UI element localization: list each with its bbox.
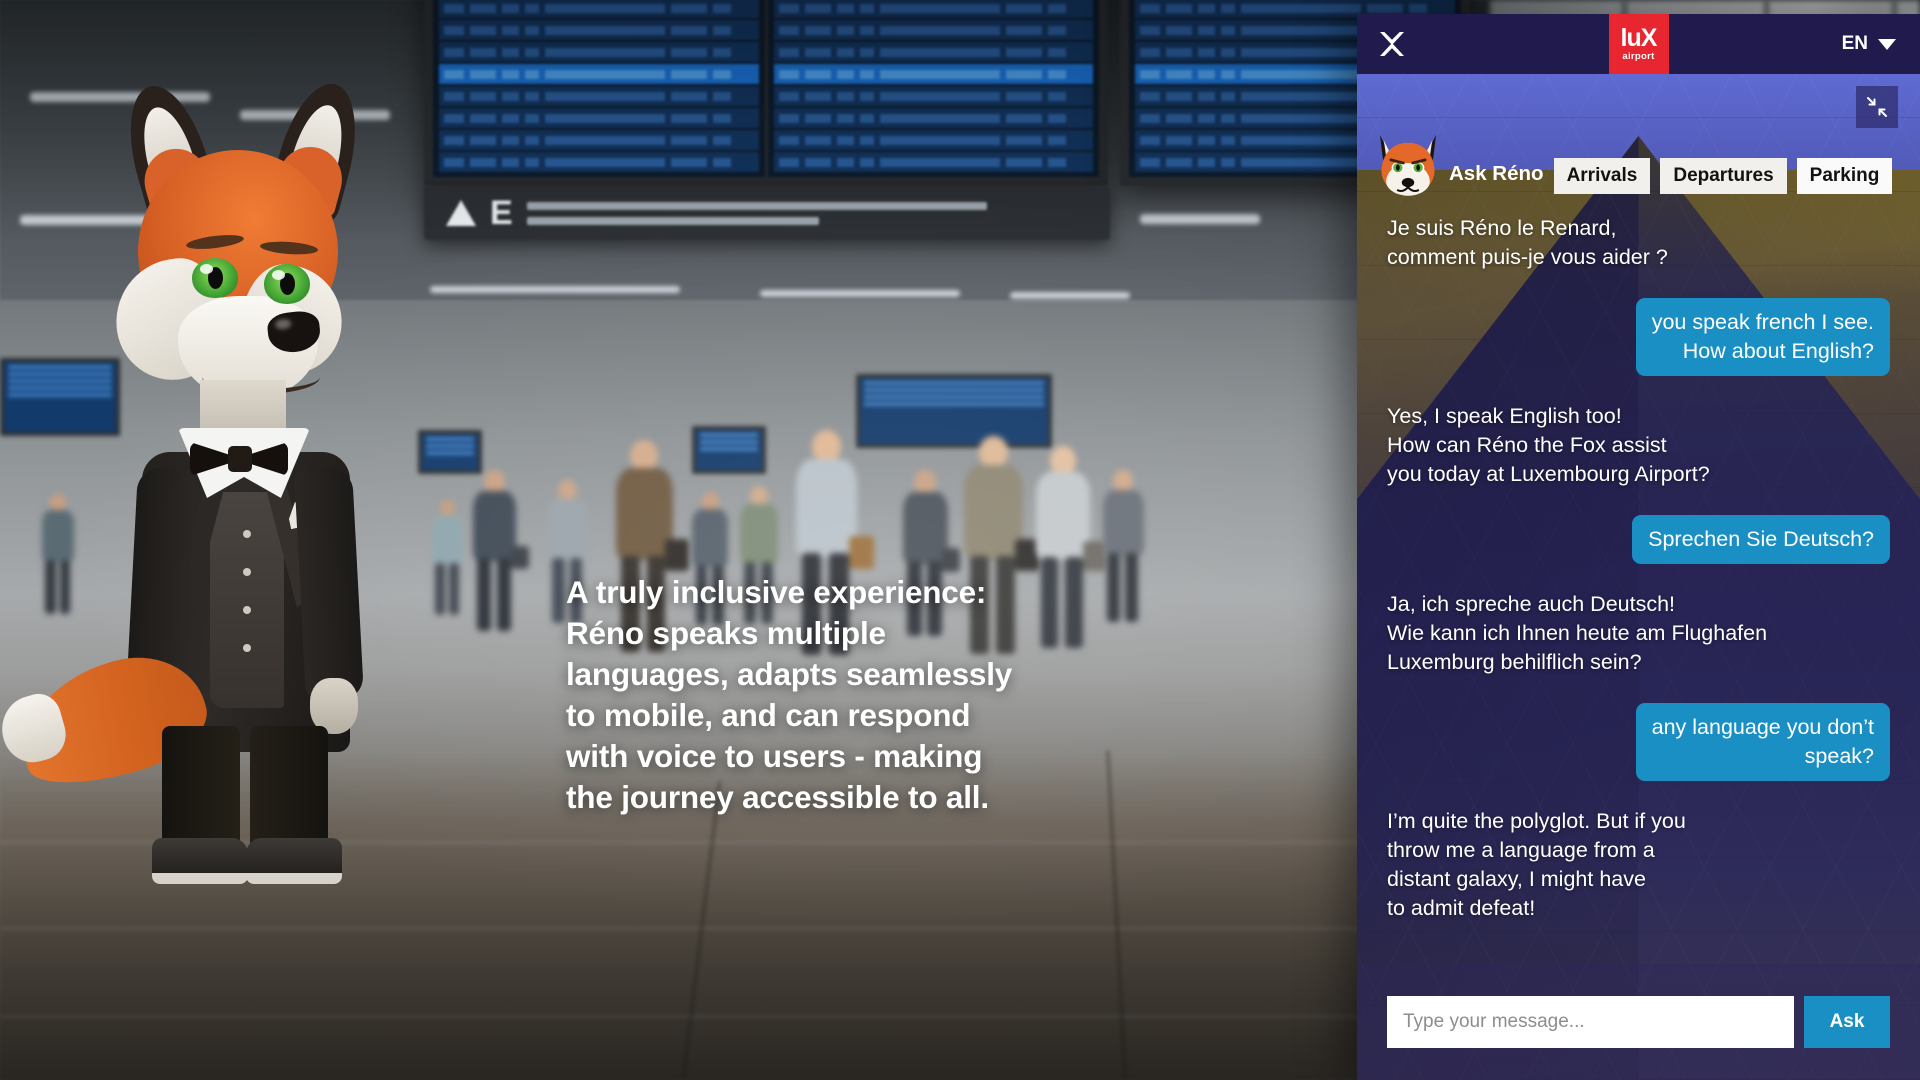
tab-ask-reno[interactable]: Ask Réno [1449, 162, 1544, 194]
flight-information-board-left [424, 0, 1108, 186]
flight-board-row [774, 130, 1094, 150]
language-selector[interactable]: EN [1842, 33, 1896, 55]
ceiling-light [760, 290, 960, 297]
directional-signage: E [424, 186, 1110, 240]
fox-leg-left [162, 726, 240, 850]
logo-wordmark: luX [1621, 26, 1657, 51]
user-message-bubble: Sprechen Sie Deutsch? [1632, 515, 1890, 564]
message-line: Sprechen Sie Deutsch? [1648, 525, 1874, 554]
logo-subtext: airport [1622, 52, 1654, 62]
tab-arrivals[interactable]: Arrivals [1554, 158, 1651, 194]
flight-board-row [774, 42, 1094, 62]
flight-board-row [774, 152, 1094, 172]
caption-line: Réno speaks multiple [566, 613, 1056, 654]
fox-shoe-left [152, 838, 248, 884]
tab-parking[interactable]: Parking [1797, 158, 1893, 194]
up-arrow-icon [446, 200, 476, 226]
bot-message: Je suis Réno le Renard,comment puis-je v… [1387, 214, 1890, 272]
crowd-person [470, 470, 519, 631]
ceiling-light [1140, 214, 1260, 224]
ask-send-button[interactable]: Ask [1804, 996, 1890, 1048]
message-line: I’m quite the polyglot. But if you [1387, 807, 1686, 836]
close-button[interactable] [1357, 14, 1427, 74]
chevron-down-icon [1878, 39, 1896, 50]
marketing-caption: A truly inclusive experience:Réno speaks… [566, 572, 1056, 818]
ask-reno-chat-widget: luX airport EN [1357, 14, 1920, 1080]
message-line: How about English? [1652, 337, 1874, 366]
flight-board-row [439, 86, 759, 106]
bot-message-text: Yes, I speak English too!How can Réno th… [1387, 402, 1710, 489]
user-message: you speak french I see.How about English… [1387, 298, 1890, 376]
collapse-arrows-icon [1865, 95, 1889, 119]
message-input[interactable] [1387, 996, 1794, 1048]
flight-board-row [439, 152, 759, 172]
fox-shoe-right [246, 838, 342, 884]
message-line: Yes, I speak English too! [1387, 402, 1710, 431]
caption-line: to mobile, and can respond [566, 695, 1056, 736]
fox-eye-right [264, 264, 310, 304]
flight-board-row [439, 42, 759, 62]
caption-line: languages, adapts seamlessly [566, 654, 1056, 695]
bot-message: I’m quite the polyglot. But if youthrow … [1387, 807, 1890, 923]
flight-board-row [774, 20, 1094, 40]
message-line: Je suis Réno le Renard, [1387, 214, 1668, 243]
chat-input-bar: Ask [1357, 964, 1920, 1080]
chat-message-list[interactable]: Je suis Réno le Renard,comment puis-je v… [1357, 192, 1920, 964]
fox-avatar-icon [1369, 124, 1447, 202]
tab-departures[interactable]: Departures [1660, 158, 1786, 194]
flight-board-row [439, 64, 759, 84]
flight-board-row [774, 64, 1094, 84]
message-line: speak? [1652, 742, 1874, 771]
message-line: Luxemburg behilflich sein? [1387, 648, 1767, 677]
message-line: you today at Luxembourg Airport? [1387, 460, 1710, 489]
user-message-bubble: you speak french I see.How about English… [1636, 298, 1890, 376]
crowd-person [1100, 470, 1146, 622]
flight-board-row [439, 20, 759, 40]
flight-board-row [774, 108, 1094, 128]
widget-header: luX airport EN [1357, 14, 1920, 74]
fox-waistcoat [210, 492, 284, 708]
flight-board-row [439, 0, 759, 18]
widget-body: Ask Réno Arrivals Departures Parking Je … [1357, 74, 1920, 1080]
bot-message: Yes, I speak English too!How can Réno th… [1387, 402, 1890, 489]
fox-leg-right [250, 726, 328, 850]
bot-message-text: Ja, ich spreche auch Deutsch!Wie kann ic… [1387, 590, 1767, 677]
wall-monitor [692, 426, 766, 474]
caption-line: with voice to users - making [566, 736, 1056, 777]
fox-eye-left [192, 258, 238, 298]
user-message: Sprechen Sie Deutsch? [1387, 515, 1890, 564]
flight-board-row [439, 130, 759, 150]
bot-message-text: Je suis Réno le Renard,comment puis-je v… [1387, 214, 1668, 272]
message-line: Ja, ich spreche auch Deutsch! [1387, 590, 1767, 619]
message-line: How can Réno the Fox assist [1387, 431, 1710, 460]
user-message-bubble: any language you don’tspeak? [1636, 703, 1890, 781]
caption-line: the journey accessible to all. [566, 777, 1056, 818]
bot-message-text: I’m quite the polyglot. But if youthrow … [1387, 807, 1686, 923]
language-label: EN [1842, 33, 1868, 55]
ceiling-light [430, 286, 680, 293]
flight-board-row [774, 0, 1094, 18]
message-line: throw me a language from a [1387, 836, 1686, 865]
bot-message: Ja, ich spreche auch Deutsch!Wie kann ic… [1387, 590, 1890, 677]
message-line: Wie kann ich Ihnen heute am Flughafen [1387, 619, 1767, 648]
message-line: to admit defeat! [1387, 894, 1686, 923]
close-chevrons-icon [1379, 31, 1405, 57]
flight-board-column [433, 0, 768, 177]
message-line: comment puis-je vous aider ? [1387, 243, 1668, 272]
fox-bowtie-knot [228, 446, 252, 472]
collapse-button[interactable] [1856, 86, 1898, 128]
gate-letter: E [490, 196, 513, 230]
reno-the-fox-mascot [60, 60, 440, 880]
lux-airport-logo: luX airport [1609, 14, 1669, 74]
ceiling-light [1010, 292, 1130, 299]
flight-board-row [439, 108, 759, 128]
message-line: distant galaxy, I might have [1387, 865, 1686, 894]
message-line: you speak french I see. [1652, 308, 1874, 337]
caption-line: A truly inclusive experience: [566, 572, 1056, 613]
widget-tab-bar: Ask Réno Arrivals Departures Parking [1357, 124, 1920, 194]
fox-arm-right [294, 467, 364, 702]
user-message: any language you don’tspeak? [1387, 703, 1890, 781]
flight-board-column [768, 0, 1100, 177]
flight-board-row [774, 86, 1094, 106]
message-line: any language you don’t [1652, 713, 1874, 742]
